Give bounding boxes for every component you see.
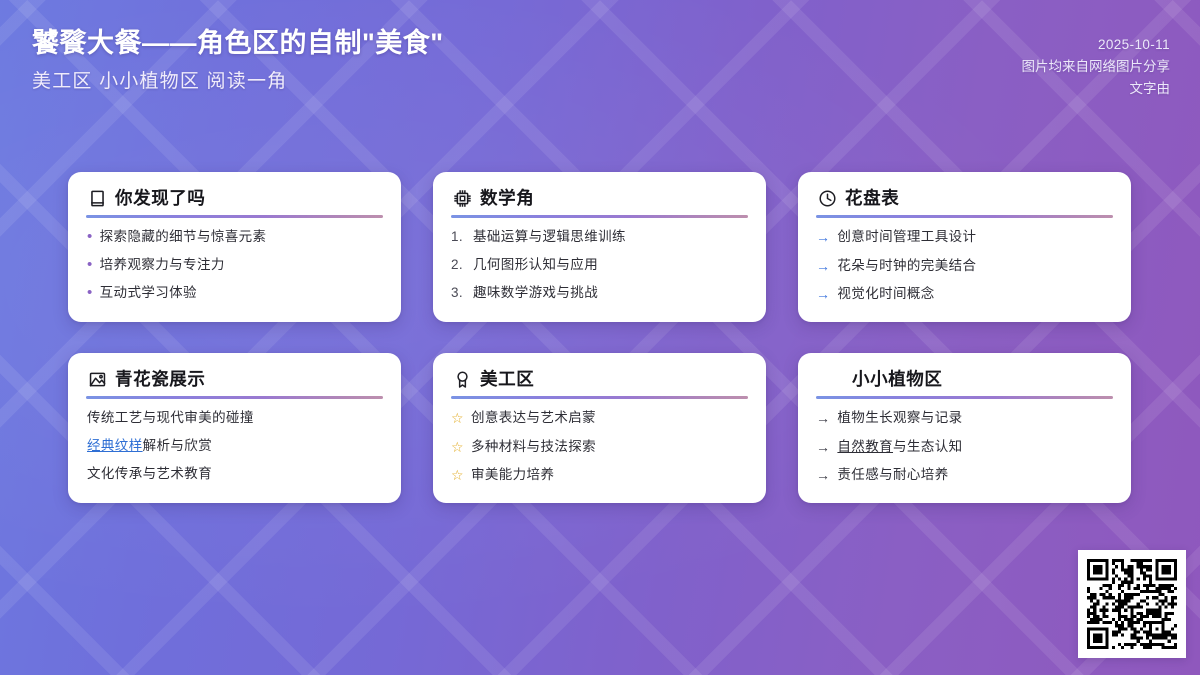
list-item-text: 几何图形认知与应用 [473, 256, 748, 274]
list-item-text: 经典纹样解析与欣赏 [87, 437, 383, 455]
list-marker: → [816, 438, 830, 457]
card-body: →创意时间管理工具设计→花朵与时钟的完美结合→视觉化时间概念 [816, 228, 1113, 304]
list-marker: 1. [451, 228, 466, 246]
image-icon [88, 370, 107, 389]
list-item-text: 创意表达与艺术启蒙 [471, 409, 748, 427]
clock-icon [818, 189, 837, 208]
card: 花盘表→创意时间管理工具设计→花朵与时钟的完美结合→视觉化时间概念 [798, 172, 1131, 322]
meta-date: 2025-10-11 [1022, 34, 1171, 56]
list-marker: 3. [451, 284, 466, 302]
header-left-block: 饕餮大餐——角色区的自制"美食" 美工区 小小植物区 阅读一角 [32, 27, 444, 94]
list-item: •培养观察力与专注力 [86, 256, 383, 274]
list-marker: 2. [451, 256, 466, 274]
list-marker: ☆ [451, 409, 464, 428]
list-item-text: 文化传承与艺术教育 [87, 465, 383, 483]
list-item: →自然教育与生态认知 [816, 438, 1113, 457]
list-item: 文化传承与艺术教育 [86, 465, 383, 483]
card: 小小植物区→植物生长观察与记录→自然教育与生态认知→责任感与耐心培养 [798, 353, 1131, 503]
card-divider [816, 396, 1113, 399]
list-item-text: 传统工艺与现代审美的碰撞 [87, 409, 383, 427]
list-marker: ☆ [451, 466, 464, 485]
list-item: 2.几何图形认知与应用 [451, 256, 748, 274]
card-divider [86, 215, 383, 218]
list-item-text: 植物生长观察与记录 [837, 409, 1113, 427]
card-divider [451, 215, 748, 218]
card: 美工区☆创意表达与艺术启蒙☆多种材料与技法探索☆审美能力培养 [433, 353, 766, 503]
poster-header: 饕餮大餐——角色区的自制"美食" 美工区 小小植物区 阅读一角 2025-10-… [0, 0, 1200, 132]
list-marker: → [816, 285, 830, 304]
list-item: 经典纹样解析与欣赏 [86, 437, 383, 455]
list-item-text: 责任感与耐心培养 [837, 466, 1113, 484]
header-meta: 2025-10-11 图片均来自网络图片分享 文字由 [1022, 34, 1171, 100]
card-body: •探索隐藏的细节与惊喜元素•培养观察力与专注力•互动式学习体验 [86, 228, 383, 302]
list-item-text: 互动式学习体验 [100, 284, 383, 302]
list-item: 传统工艺与现代审美的碰撞 [86, 409, 383, 427]
card-title: 数学角 [480, 189, 534, 208]
card-body: 1.基础运算与逻辑思维训练2.几何图形认知与应用3.趣味数学游戏与挑战 [451, 228, 748, 302]
list-item: ☆多种材料与技法探索 [451, 438, 748, 457]
list-marker: • [86, 256, 93, 274]
list-item-text: 自然教育与生态认知 [837, 438, 1113, 456]
card-body: ☆创意表达与艺术启蒙☆多种材料与技法探索☆审美能力培养 [451, 409, 748, 485]
list-marker: ☆ [451, 438, 464, 457]
card-header: 小小植物区 [816, 370, 1113, 389]
inline-text: 与生态认知 [893, 439, 963, 454]
list-item: ☆审美能力培养 [451, 466, 748, 485]
list-item: •探索隐藏的细节与惊喜元素 [86, 228, 383, 246]
list-item: •互动式学习体验 [86, 284, 383, 302]
list-item: →植物生长观察与记录 [816, 409, 1113, 428]
card-body: →植物生长观察与记录→自然教育与生态认知→责任感与耐心培养 [816, 409, 1113, 485]
meta-credit: 文字由 [1022, 78, 1171, 100]
card: 数学角1.基础运算与逻辑思维训练2.几何图形认知与应用3.趣味数学游戏与挑战 [433, 172, 766, 322]
list-item-text: 培养观察力与专注力 [100, 256, 383, 274]
card-title: 小小植物区 [852, 370, 943, 389]
list-item-text: 趣味数学游戏与挑战 [473, 284, 748, 302]
card-divider [86, 396, 383, 399]
list-marker: → [816, 466, 830, 485]
list-item-text: 探索隐藏的细节与惊喜元素 [100, 228, 383, 246]
list-item: ☆创意表达与艺术启蒙 [451, 409, 748, 428]
list-item: →责任感与耐心培养 [816, 466, 1113, 485]
page-subtitle: 美工区 小小植物区 阅读一角 [32, 70, 444, 95]
card-title: 青花瓷展示 [115, 370, 206, 389]
card-header: 美工区 [451, 370, 748, 389]
qr-code-image [1087, 559, 1177, 649]
meta-source: 图片均来自网络图片分享 [1022, 56, 1171, 78]
list-item-text: 视觉化时间概念 [837, 285, 1113, 303]
card: 青花瓷展示传统工艺与现代审美的碰撞经典纹样解析与欣赏文化传承与艺术教育 [68, 353, 401, 503]
card-title: 花盘表 [845, 189, 899, 208]
list-item-text: 创意时间管理工具设计 [837, 228, 1113, 246]
list-item: →视觉化时间概念 [816, 285, 1113, 304]
card-header: 青花瓷展示 [86, 370, 383, 389]
page-title: 饕餮大餐——角色区的自制"美食" [32, 27, 444, 61]
card-header: 花盘表 [816, 189, 1113, 208]
list-item: 1.基础运算与逻辑思维训练 [451, 228, 748, 246]
inline-text: 解析与欣赏 [143, 438, 213, 453]
list-marker: • [86, 228, 93, 246]
bookmark-icon [88, 189, 107, 208]
list-item-text: 花朵与时钟的完美结合 [837, 257, 1113, 275]
cpu-chip-icon [453, 189, 472, 208]
list-item: →创意时间管理工具设计 [816, 228, 1113, 247]
inline-underlined-term[interactable]: 自然教育 [837, 439, 893, 454]
qr-code[interactable] [1078, 550, 1186, 658]
award-ribbon-icon [453, 370, 472, 389]
list-item-text: 审美能力培养 [471, 466, 748, 484]
card-body: 传统工艺与现代审美的碰撞经典纹样解析与欣赏文化传承与艺术教育 [86, 409, 383, 483]
list-item-text: 基础运算与逻辑思维训练 [473, 228, 748, 246]
card: 你发现了吗•探索隐藏的细节与惊喜元素•培养观察力与专注力•互动式学习体验 [68, 172, 401, 322]
card-title: 你发现了吗 [115, 189, 206, 208]
list-item: →花朵与时钟的完美结合 [816, 257, 1113, 276]
list-marker: • [86, 284, 93, 302]
card-title: 美工区 [480, 370, 534, 389]
inline-link[interactable]: 经典纹样 [87, 438, 143, 453]
list-marker: → [816, 257, 830, 276]
list-item: 3.趣味数学游戏与挑战 [451, 284, 748, 302]
list-marker: → [816, 228, 830, 247]
list-item-text: 多种材料与技法探索 [471, 438, 748, 456]
card-divider [451, 396, 748, 399]
card-divider [816, 215, 1113, 218]
card-grid: 你发现了吗•探索隐藏的细节与惊喜元素•培养观察力与专注力•互动式学习体验数学角1… [68, 172, 1132, 503]
card-header: 数学角 [451, 189, 748, 208]
card-header: 你发现了吗 [86, 189, 383, 208]
list-marker: → [816, 409, 830, 428]
